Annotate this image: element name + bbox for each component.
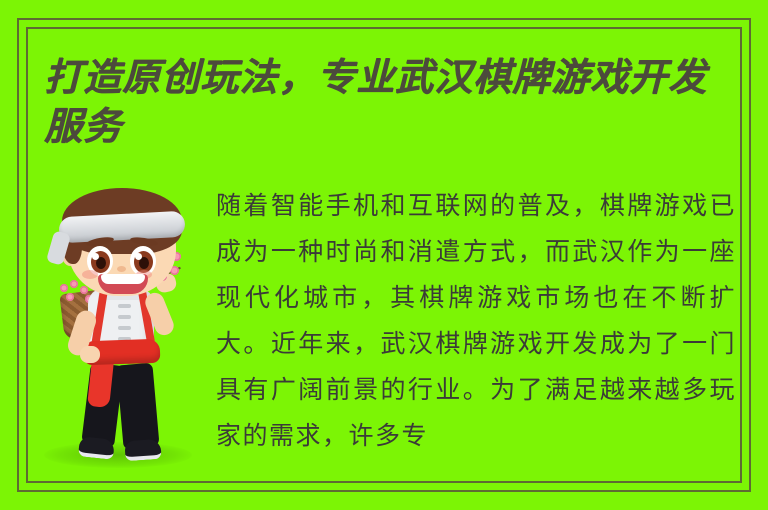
frog-button [118,315,131,319]
frog-button [118,326,131,330]
right-shoe [124,439,161,461]
frog-button [118,304,131,308]
right-leg [116,363,159,450]
left-blush [82,270,98,279]
nose [117,266,126,272]
banner-title: 打造原创玩法，专业武汉棋牌游戏开发服务 [44,52,734,150]
promo-banner: 打造原创玩法，专业武汉棋牌游戏开发服务 随着智能手机和互联网的普及，棋牌游戏已成… [0,0,768,510]
ground-shadow [44,442,192,468]
left-hand [80,346,100,363]
banner-body-text: 随着智能手机和互联网的普及，棋牌游戏已成为一种时尚和消遣方式，而武汉作为一座现代… [216,183,736,459]
character-illustration [32,188,202,473]
smiling-mouth [98,274,148,294]
